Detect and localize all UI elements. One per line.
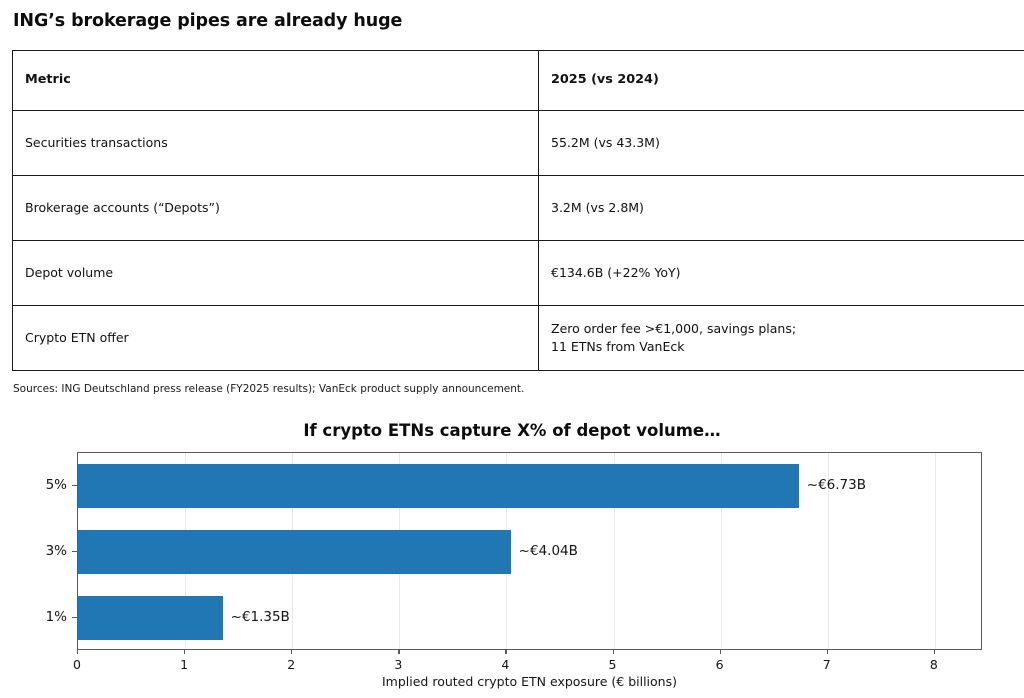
table-cell-metric: Brokerage accounts (“Depots”) — [13, 176, 539, 241]
chart-y-tick-mark — [72, 617, 77, 618]
chart-x-tick-mark — [505, 650, 506, 654]
chart-y-tick-label: 5% — [46, 477, 67, 493]
chart-x-tick-mark — [613, 650, 614, 654]
table-cell-value-line: Zero order fee >€1,000, savings plans; — [551, 320, 1024, 338]
chart-x-tick-label: 6 — [716, 657, 724, 672]
chart-title: If crypto ETNs capture X% of depot volum… — [0, 421, 1024, 440]
table-cell-value: Zero order fee >€1,000, savings plans; 1… — [539, 306, 1024, 371]
chart-x-tick-label: 7 — [823, 657, 831, 672]
chart-y-tick-label: 1% — [46, 609, 67, 625]
chart-x-tick-label: 5 — [609, 657, 617, 672]
chart-bar-value-label: ~€1.35B — [231, 609, 290, 625]
crypto-etn-exposure-chart: If crypto ETNs capture X% of depot volum… — [0, 414, 1024, 698]
table-cell-value-line: 11 ETNs from VanEck — [551, 338, 1024, 356]
chart-bar-value-label: ~€6.73B — [807, 477, 866, 493]
chart-bar — [78, 596, 223, 640]
table-cell-value-line: 55.2M (vs 43.3M) — [551, 134, 1024, 152]
table-row: Depot volume €134.6B (+22% YoY) — [13, 241, 1024, 306]
chart-x-tick-mark — [720, 650, 721, 654]
chart-x-tick-label: 3 — [394, 657, 402, 672]
chart-x-tick-mark — [398, 650, 399, 654]
chart-gridline — [935, 453, 936, 649]
table-row: Securities transactions 55.2M (vs 43.3M) — [13, 111, 1024, 176]
chart-x-tick-label: 1 — [180, 657, 188, 672]
table-cell-metric: Crypto ETN offer — [13, 306, 539, 371]
table-cell-value-line: 3.2M (vs 2.8M) — [551, 199, 1024, 217]
chart-y-tick-mark — [72, 485, 77, 486]
chart-x-tick-mark — [184, 650, 185, 654]
page-title: ING’s brokerage pipes are already huge — [13, 11, 402, 31]
table-cell-value: 3.2M (vs 2.8M) — [539, 176, 1024, 241]
table-header-value: 2025 (vs 2024) — [539, 51, 1024, 111]
table-cell-value: €134.6B (+22% YoY) — [539, 241, 1024, 306]
table-header-metric: Metric — [13, 51, 539, 111]
table-row: Brokerage accounts (“Depots”) 3.2M (vs 2… — [13, 176, 1024, 241]
chart-bar-value-label: ~€4.04B — [519, 543, 578, 559]
table-cell-metric: Securities transactions — [13, 111, 539, 176]
chart-x-tick-label: 8 — [930, 657, 938, 672]
sources-note: Sources: ING Deutschland press release (… — [13, 383, 524, 395]
chart-x-axis-label: Implied routed crypto ETN exposure (€ bi… — [77, 674, 982, 689]
chart-y-tick-mark — [72, 551, 77, 552]
table-header-row: Metric 2025 (vs 2024) — [13, 51, 1024, 111]
chart-x-tick-mark — [77, 650, 78, 654]
chart-x-tick-mark — [934, 650, 935, 654]
table-cell-value: 55.2M (vs 43.3M) — [539, 111, 1024, 176]
chart-x-tick-label: 2 — [287, 657, 295, 672]
brokerage-metrics-table: Metric 2025 (vs 2024) Securities transac… — [12, 50, 1024, 371]
chart-x-tick-label: 4 — [501, 657, 509, 672]
table-cell-value-line: €134.6B (+22% YoY) — [551, 264, 1024, 282]
table-row: Crypto ETN offer Zero order fee >€1,000,… — [13, 306, 1024, 371]
chart-x-tick-label: 0 — [73, 657, 81, 672]
chart-x-tick-mark — [291, 650, 292, 654]
chart-x-tick-mark — [827, 650, 828, 654]
chart-bar — [78, 530, 511, 574]
chart-y-tick-label: 3% — [46, 543, 67, 559]
table-cell-metric: Depot volume — [13, 241, 539, 306]
chart-bar — [78, 464, 799, 508]
